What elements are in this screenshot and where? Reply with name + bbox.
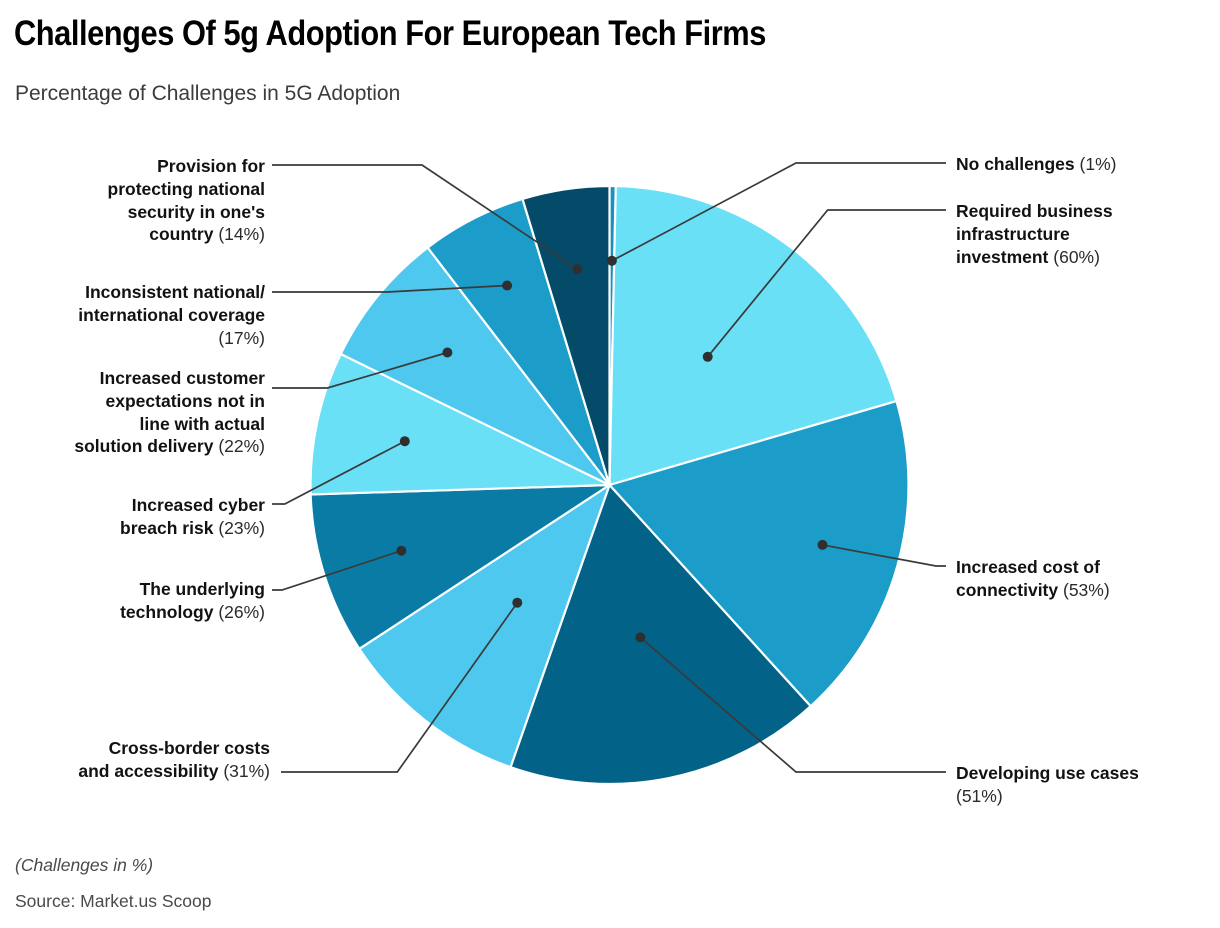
slice-label-line1: Cross-border costs (109, 738, 270, 758)
leader-dot (635, 632, 645, 642)
footer-note: (Challenges in %) (15, 855, 153, 876)
slice-label-cross-border-costs[interactable]: Cross-border costs and accessibility (31… (20, 737, 270, 783)
slice-label-increased-cost-of-connectivity[interactable]: Increased cost of connectivity (53%) (956, 556, 1206, 602)
slice-label-name: No challenges (956, 154, 1075, 174)
slice-label-line2: and accessibility (78, 761, 218, 781)
slice-label-line1: Required business (956, 201, 1113, 221)
leader-dot (442, 348, 452, 358)
slice-label-line2: international coverage (78, 305, 265, 325)
slice-label-pct: (14%) (218, 224, 265, 244)
slice-label-required-business-infrastructure[interactable]: Required business infrastructure investm… (956, 200, 1206, 268)
slice-label-line2: breach risk (120, 518, 213, 538)
slice-label-pct: (53%) (1063, 580, 1110, 600)
slice-label-line1: Increased cost of (956, 557, 1100, 577)
slice-label-line1: The underlying (140, 579, 265, 599)
leader-dot (400, 436, 410, 446)
slice-label-line2: expectations not in (106, 391, 265, 411)
slice-label-pct: (31%) (223, 761, 270, 781)
slice-label-line2: infrastructure (956, 224, 1070, 244)
slice-label-pct: (17%) (218, 328, 265, 348)
slice-label-line4: country (149, 224, 213, 244)
leader-dot (502, 281, 512, 291)
slice-label-pct: (22%) (218, 436, 265, 456)
slice-label-pct: (26%) (218, 602, 265, 622)
slice-label-line1: Inconsistent national/ (85, 282, 265, 302)
slice-label-line2: protecting national (108, 179, 266, 199)
leader-dot (396, 546, 406, 556)
slice-label-the-underlying-technology[interactable]: The underlying technology (26%) (30, 578, 265, 624)
slice-label-line3: security in one's (128, 202, 265, 222)
slice-label-line1: Developing use cases (956, 763, 1139, 783)
slice-label-line3: investment (956, 247, 1048, 267)
slice-label-developing-use-cases[interactable]: Developing use cases (51%) (956, 762, 1211, 808)
slice-label-pct: (60%) (1053, 247, 1100, 267)
slice-label-line1: Increased customer (100, 368, 265, 388)
pie-chart-plot-area: No challenges (1%) Required business inf… (0, 0, 1220, 928)
slice-label-no-challenges[interactable]: No challenges (1%) (956, 153, 1211, 176)
leader-dot (703, 352, 713, 362)
leader-dot (512, 598, 522, 608)
slice-label-line3: line with actual (140, 414, 265, 434)
slice-label-line2: technology (120, 602, 213, 622)
slice-label-inconsistent-coverage[interactable]: Inconsistent national/ international cov… (14, 281, 265, 349)
leader-dot (818, 540, 828, 550)
slice-label-increased-cyber-breach-risk[interactable]: Increased cyber breach risk (23%) (30, 494, 265, 540)
leader-dot (607, 256, 617, 266)
slice-label-line1: Provision for (157, 156, 265, 176)
leader-dot (572, 264, 582, 274)
slice-label-pct: (23%) (218, 518, 265, 538)
slice-label-provision-national-security[interactable]: Provision for protecting national securi… (20, 155, 265, 246)
slice-label-line2: connectivity (956, 580, 1058, 600)
footer-source: Source: Market.us Scoop (15, 891, 211, 912)
slice-label-pct: (1%) (1080, 154, 1117, 174)
slice-label-customer-expectations[interactable]: Increased customer expectations not in l… (20, 367, 265, 458)
slice-label-line1: Increased cyber (132, 495, 265, 515)
slice-label-pct: (51%) (956, 786, 1003, 806)
slice-label-line4: solution delivery (74, 436, 213, 456)
pie-slice-group[interactable] (311, 186, 909, 784)
